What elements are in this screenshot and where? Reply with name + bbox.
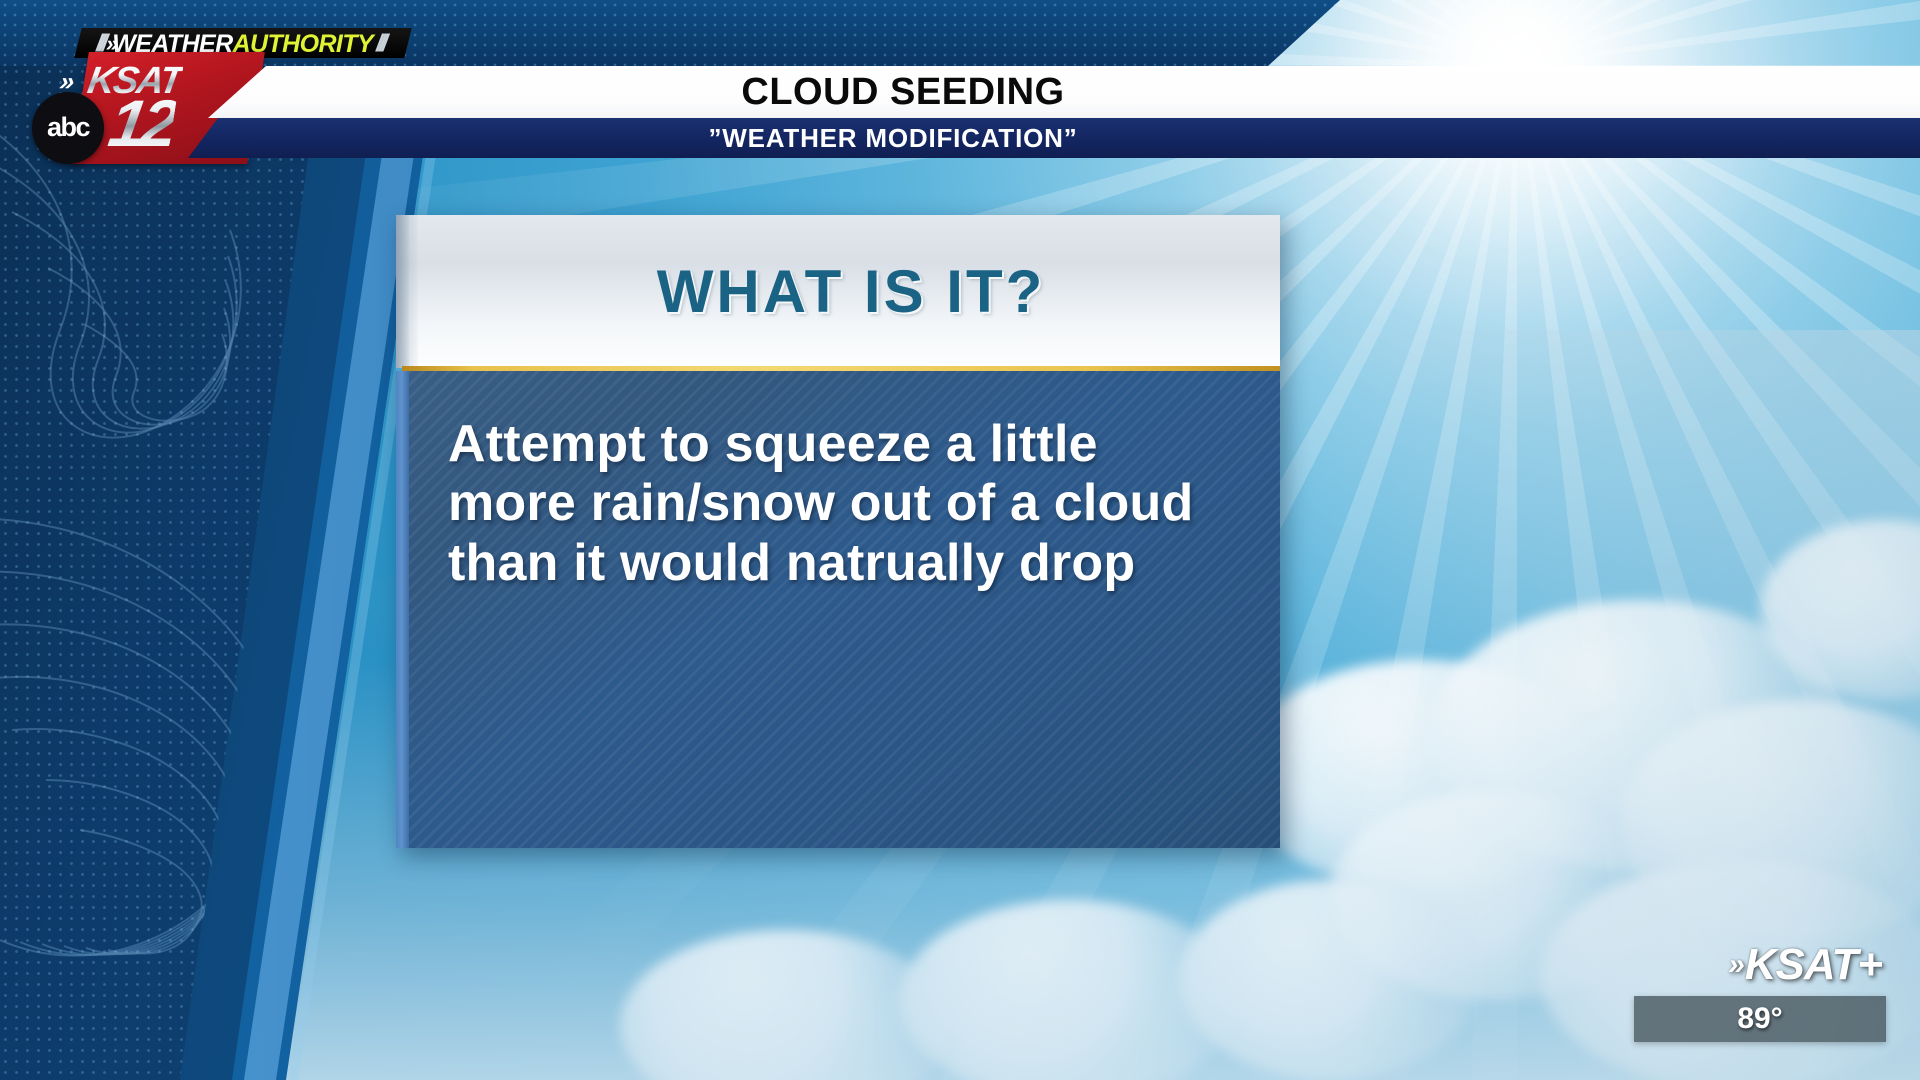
body-line-2: more rain/snow out of a cloud: [448, 474, 1244, 533]
ksat-plus-bug[interactable]: »KSAT+ 89°: [1586, 940, 1886, 1042]
abc-network-badge: abc: [32, 92, 104, 164]
ksat-plus-logo: »KSAT+: [1586, 940, 1882, 990]
ksat-channel-number: 12: [105, 90, 179, 156]
current-temperature-badge: 89°: [1634, 996, 1886, 1042]
abc-label: abc: [47, 114, 89, 141]
authority-tail-slashes-icon: ///: [376, 30, 384, 58]
panel-body: Attempt to squeeze a little more rain/sn…: [396, 371, 1280, 848]
panel-body-text: Attempt to squeeze a little more rain/sn…: [448, 415, 1244, 593]
page-subtitle: ”WEATHER MODIFICATION”: [188, 118, 1598, 158]
ksat-plus-chevron-icon: »: [1728, 948, 1736, 982]
broadcast-graphic: ///»WEATHERAUTHORITY/// » KSAT 12 abc CL…: [0, 0, 1920, 1080]
body-line-3: than it would natrually drop: [448, 534, 1244, 593]
content-panel: WHAT IS IT? Attempt to squeeze a little …: [396, 215, 1280, 848]
ksat-plus-wordmark: KSAT+: [1745, 940, 1882, 990]
panel-heading: WHAT IS IT?: [657, 257, 1046, 326]
page-title: CLOUD SEEDING: [208, 66, 1598, 118]
body-line-1: Attempt to squeeze a little: [448, 415, 1244, 474]
panel-header: WHAT IS IT?: [396, 215, 1280, 368]
panel-left-accent-strip: [396, 371, 409, 848]
